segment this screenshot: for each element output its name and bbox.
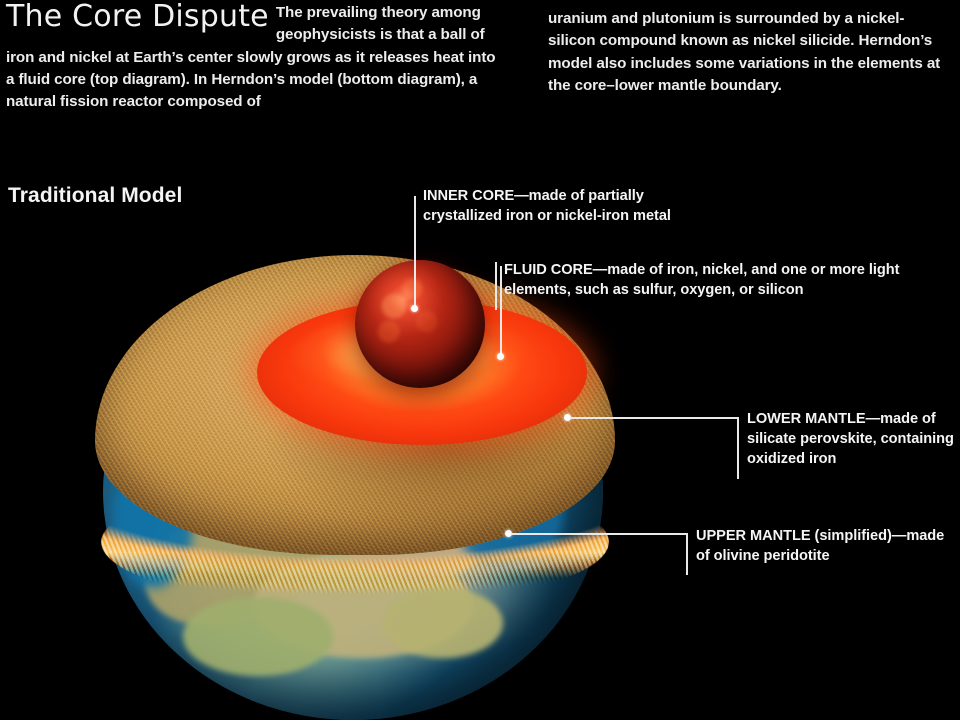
leader-line-lower-mantle (570, 417, 738, 419)
callout-text-fluid-core: FLUID CORE—made of iron, nickel, and one… (504, 260, 956, 300)
callout-text-lower-mantle: LOWER MANTLE—made of silicate perovskite… (747, 409, 960, 469)
earth-cutaway-illustration (75, 255, 635, 720)
bracket-fluid-core (495, 262, 497, 310)
bracket-upper-mantle (686, 533, 688, 575)
callout-text-inner-core: INNER CORE—made of partially crystallize… (423, 186, 723, 226)
leader-line-upper-mantle (511, 533, 687, 535)
page-title: The Core Dispute (6, 2, 269, 32)
inner-core-texture (355, 260, 485, 388)
callout-text-upper-mantle: UPPER MANTLE (simplified)—made of olivin… (696, 526, 960, 566)
header-right-column: uranium and plutonium is surrounded by a… (548, 8, 948, 97)
leader-dot-fluid-core (497, 353, 504, 360)
leader-line-inner-core (414, 196, 416, 308)
section-title-traditional-model: Traditional Model (8, 184, 182, 208)
bracket-lower-mantle (737, 417, 739, 479)
leader-dot-inner-core (411, 305, 418, 312)
header-left-column: The Core Dispute The prevailing theory a… (6, 2, 496, 113)
diagram-canvas: The Core Dispute The prevailing theory a… (0, 0, 960, 720)
intro-paragraph-right: uranium and plutonium is surrounded by a… (548, 8, 948, 97)
landmass (183, 597, 333, 676)
leader-line-fluid-core (500, 266, 502, 358)
